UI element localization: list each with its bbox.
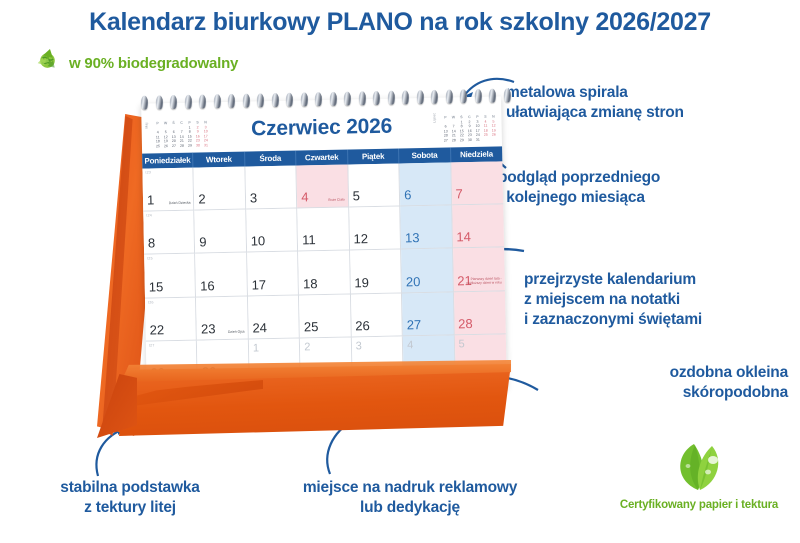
day-cell: t2515 (144, 254, 196, 298)
day-cell: 27 (402, 292, 454, 336)
week-number: t27 (149, 343, 155, 347)
spiral-coil (184, 95, 191, 109)
infographic-canvas: Kalendarz biurkowy PLANO na rok szkolny … (0, 0, 800, 543)
day-number: 9 (199, 235, 207, 250)
day-cell: 9 (195, 210, 247, 254)
annotation-print-area: miejsce na nadruk reklamowy lub dedykacj… (276, 478, 544, 518)
day-cell: 24 (248, 295, 300, 339)
day-cell: t231Dzień Dziecka (142, 168, 194, 212)
mini-day: 30 (194, 143, 202, 148)
certification-label: Certyfikowany papier i tektura (604, 499, 794, 511)
annotation-spiral: metalowa spirala ułatwiająca zmianę stro… (506, 83, 684, 123)
day-cell: 4Boże Ciało (297, 165, 349, 209)
mini-day: 27 (170, 144, 178, 149)
spiral-coil (257, 93, 264, 107)
spiral-coil (373, 91, 380, 105)
day-number: 16 (200, 278, 215, 293)
day-number: 27 (407, 317, 422, 332)
day-number: 13 (405, 230, 420, 245)
spiral-coil (301, 92, 308, 106)
mini-day: 28 (450, 138, 458, 143)
day-number: 11 (302, 233, 316, 248)
week-number: t25 (147, 257, 153, 261)
day-number: 5 (458, 338, 464, 350)
mini-month-next-label: Lipiec (432, 113, 436, 123)
day-cell: 3 (245, 166, 297, 210)
day-cell: 21Pierwszy dzień lata - najdłuższy dzień… (453, 248, 505, 292)
certification-badge: Certyfikowany papier i tektura (604, 440, 794, 511)
mini-day: 29 (186, 144, 194, 149)
day-cell: 19 (350, 250, 402, 294)
green-leaves-icon (668, 479, 730, 496)
spiral-coil (213, 94, 220, 108)
mini-day: 31 (474, 138, 482, 143)
mini-month-previous: Maj PWŚCPSN12345678910111213141516171819… (145, 120, 210, 149)
spiral-coil (489, 89, 496, 103)
day-number: 6 (404, 187, 412, 202)
annotation-calendar-grid: przejrzyste kalendarium z miejscem na no… (524, 270, 702, 330)
weekday-header-7: Niedziela (451, 146, 503, 162)
week-number: t26 (148, 300, 154, 304)
annotation-base: stabilna podstawka z tektury litej (14, 478, 246, 518)
day-number: 8 (148, 236, 156, 251)
day-number: 19 (354, 275, 369, 290)
annotation-month-preview: podgląd poprzedniego i kolejnego miesiąc… (498, 168, 660, 208)
mini-day: 25 (154, 144, 162, 149)
day-cell: 11 (298, 208, 350, 252)
day-number: 18 (303, 276, 318, 291)
day-number: 4 (407, 339, 413, 351)
day-cell: 20 (401, 249, 453, 293)
day-cell: 7 (451, 161, 503, 205)
day-number: 20 (406, 274, 421, 289)
annotation-veneer: ozdobna okleina skóropodobna (540, 363, 788, 403)
day-cell: 16 (196, 253, 248, 297)
page-title: Kalendarz biurkowy PLANO na rok szkolny … (0, 8, 800, 37)
day-cell: 13 (400, 206, 452, 250)
day-cell: 23Dzień Ojca (196, 296, 248, 340)
day-cell: 26 (351, 293, 403, 337)
weekday-header-4: Czwartek (296, 150, 348, 166)
day-cell: 25 (299, 294, 351, 338)
day-cell: t248 (143, 211, 195, 255)
day-number: 10 (251, 234, 266, 249)
day-cell: 5 (348, 163, 400, 207)
day-number: 24 (252, 320, 267, 335)
week-number: t23 (145, 170, 151, 174)
mini-month-next-grid: PWŚCPSN123456789101112131415161718192021… (441, 114, 498, 143)
weekday-header-1: Poniedziałek (142, 153, 194, 169)
day-number: 1 (253, 342, 259, 354)
mini-day: 27 (442, 138, 450, 143)
mini-month-previous-label: Maj (144, 122, 148, 128)
eco-badge: w 90% biodegradowalny (34, 47, 238, 79)
eco-badge-label: w 90% biodegradowalny (69, 55, 238, 72)
mini-month-previous-grid: PWŚCPSN123456789101112131415161718192021… (153, 120, 210, 149)
day-cell: 18 (298, 251, 350, 295)
mini-day: 30 (466, 138, 474, 143)
day-number: 26 (355, 318, 370, 333)
spiral-coil (417, 90, 424, 104)
day-number: 22 (149, 322, 164, 337)
calendar-page: Czerwiec 2026 Maj PWŚCPSN123456789101112… (141, 96, 507, 395)
day-number: 2 (304, 341, 310, 353)
day-note: Boże Ciało (305, 198, 345, 203)
day-number: 7 (455, 186, 463, 201)
day-number: 25 (304, 319, 319, 334)
day-number: 14 (456, 229, 471, 244)
day-note: Pierwszy dzień lata - najdłuższy dzień w… (462, 277, 502, 286)
spiral-coil (402, 90, 409, 104)
mini-day: 28 (178, 144, 186, 149)
day-cell: 6 (399, 162, 451, 206)
weekday-header-6: Sobota (399, 147, 451, 163)
spiral-coil (170, 95, 177, 109)
mini-day: 26 (162, 144, 170, 149)
spiral-coil (271, 93, 278, 107)
day-number: 12 (353, 232, 368, 247)
spiral-coil (344, 91, 351, 105)
day-number: 28 (458, 316, 473, 331)
spiral-coil (315, 92, 322, 106)
day-cell: 10 (246, 209, 298, 253)
day-cell: 28 (454, 291, 506, 335)
spiral-coil (504, 88, 511, 102)
day-cell: 17 (247, 252, 299, 296)
spiral-coil (359, 91, 366, 105)
day-number: 3 (250, 191, 258, 206)
spiral-coil (242, 94, 249, 108)
day-number: 5 (353, 188, 361, 203)
day-cell: t2622 (145, 297, 197, 341)
day-number: 17 (251, 277, 266, 292)
mini-day: 29 (458, 138, 466, 143)
weekday-header-3: Środa (245, 151, 297, 167)
spiral-coil (228, 94, 235, 108)
spiral-coil (286, 93, 293, 107)
day-number: 3 (356, 340, 362, 352)
day-note: Dzień Ojca (205, 329, 245, 334)
day-cell: 12 (349, 207, 401, 251)
weekday-header-2: Wtorek (194, 152, 246, 168)
mini-day (482, 138, 490, 143)
spiral-coil (388, 91, 395, 105)
mini-month-next: Lipiec PWŚCPSN12345678910111213141516171… (433, 114, 498, 143)
spiral-coil (446, 89, 453, 103)
mini-day (490, 137, 498, 142)
mini-day: 31 (202, 143, 210, 148)
recycle-globe-icon (34, 47, 61, 79)
day-note: Dzień Dziecka (150, 201, 190, 206)
calendar-day-grid: t231Dzień Dziecka234Boże Ciało567t248910… (142, 161, 506, 384)
day-cell: 2 (194, 167, 246, 211)
spiral-coil (199, 94, 206, 108)
weekday-header-5: Piątek (348, 148, 400, 164)
week-number: t24 (146, 214, 152, 218)
spiral-coil (460, 89, 467, 103)
spiral-coil (431, 90, 438, 104)
day-number: 15 (149, 279, 164, 294)
day-cell: 14 (452, 205, 504, 249)
spiral-coil (475, 89, 482, 103)
spiral-coil (141, 96, 148, 110)
desk-calendar: Czerwiec 2026 Maj PWŚCPSN123456789101112… (97, 92, 517, 392)
spiral-coil (155, 95, 162, 109)
spiral-coil (330, 92, 337, 106)
day-number: 2 (198, 192, 206, 207)
